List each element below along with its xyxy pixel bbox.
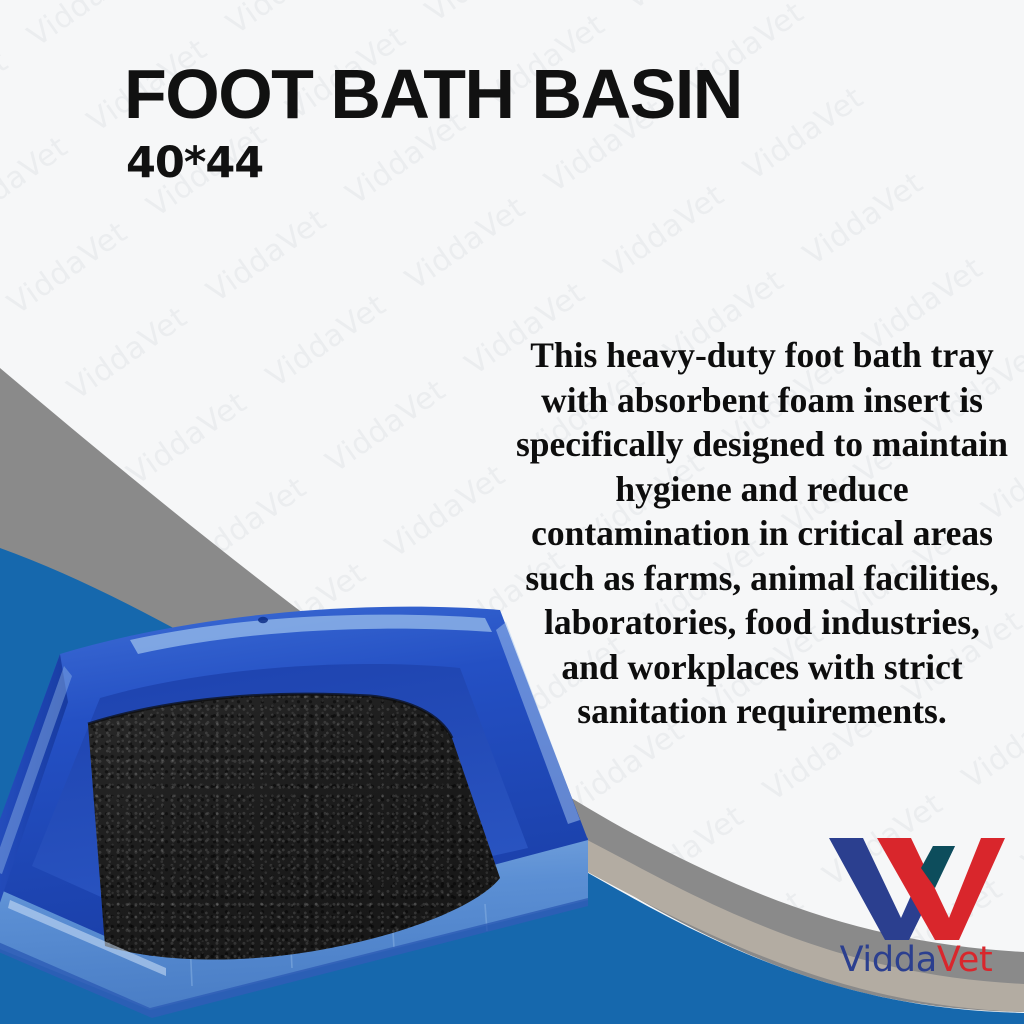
watermark-text: ViddaVet bbox=[61, 299, 193, 406]
page-title: FOOT BATH BASIN bbox=[124, 62, 742, 128]
watermark-text: ViddaVet bbox=[419, 0, 551, 29]
watermark-text: ViddaVet bbox=[598, 177, 730, 284]
watermark-text: ViddaVet bbox=[319, 372, 451, 479]
watermark-text: ViddaVet bbox=[21, 0, 153, 53]
wordmark-secondary: Vet bbox=[937, 940, 993, 980]
rim-vent-dot bbox=[258, 617, 268, 623]
brand-logo[interactable]: ViddaVet bbox=[816, 832, 1016, 980]
headline-block: FOOT BATH BASIN 40*44 bbox=[124, 62, 742, 185]
watermark-text: ViddaVet bbox=[260, 287, 392, 394]
watermark-text: ViddaVet bbox=[618, 0, 750, 17]
wordmark-primary: Vidda bbox=[840, 940, 937, 980]
product-description: This heavy-duty foot bath tray with abso… bbox=[512, 333, 1012, 734]
watermark-text: ViddaVet bbox=[797, 165, 929, 272]
viddavet-w-mark-icon bbox=[823, 832, 1009, 944]
watermark-text: ViddaVet bbox=[677, 883, 809, 990]
watermark-text: ViddaVet bbox=[1015, 773, 1024, 880]
product-size-label: 40*44 bbox=[126, 142, 742, 185]
watermark-text: ViddaVet bbox=[737, 80, 869, 187]
watermark-text: ViddaVet bbox=[0, 44, 14, 151]
watermark-text: ViddaVet bbox=[399, 189, 531, 296]
watermark-text: ViddaVet bbox=[0, 129, 74, 236]
product-banner: ViddaVet ViddaVet ViddaVet ViddaVet Vidd… bbox=[0, 0, 1024, 1024]
watermark-text: ViddaVet bbox=[0, 397, 54, 504]
watermark-text: ViddaVet bbox=[120, 384, 252, 491]
watermark-text: ViddaVet bbox=[200, 202, 332, 309]
brand-wordmark: ViddaVet bbox=[816, 940, 1016, 980]
watermark-text: ViddaVet bbox=[1, 214, 133, 321]
watermark-text: ViddaVet bbox=[220, 0, 352, 41]
